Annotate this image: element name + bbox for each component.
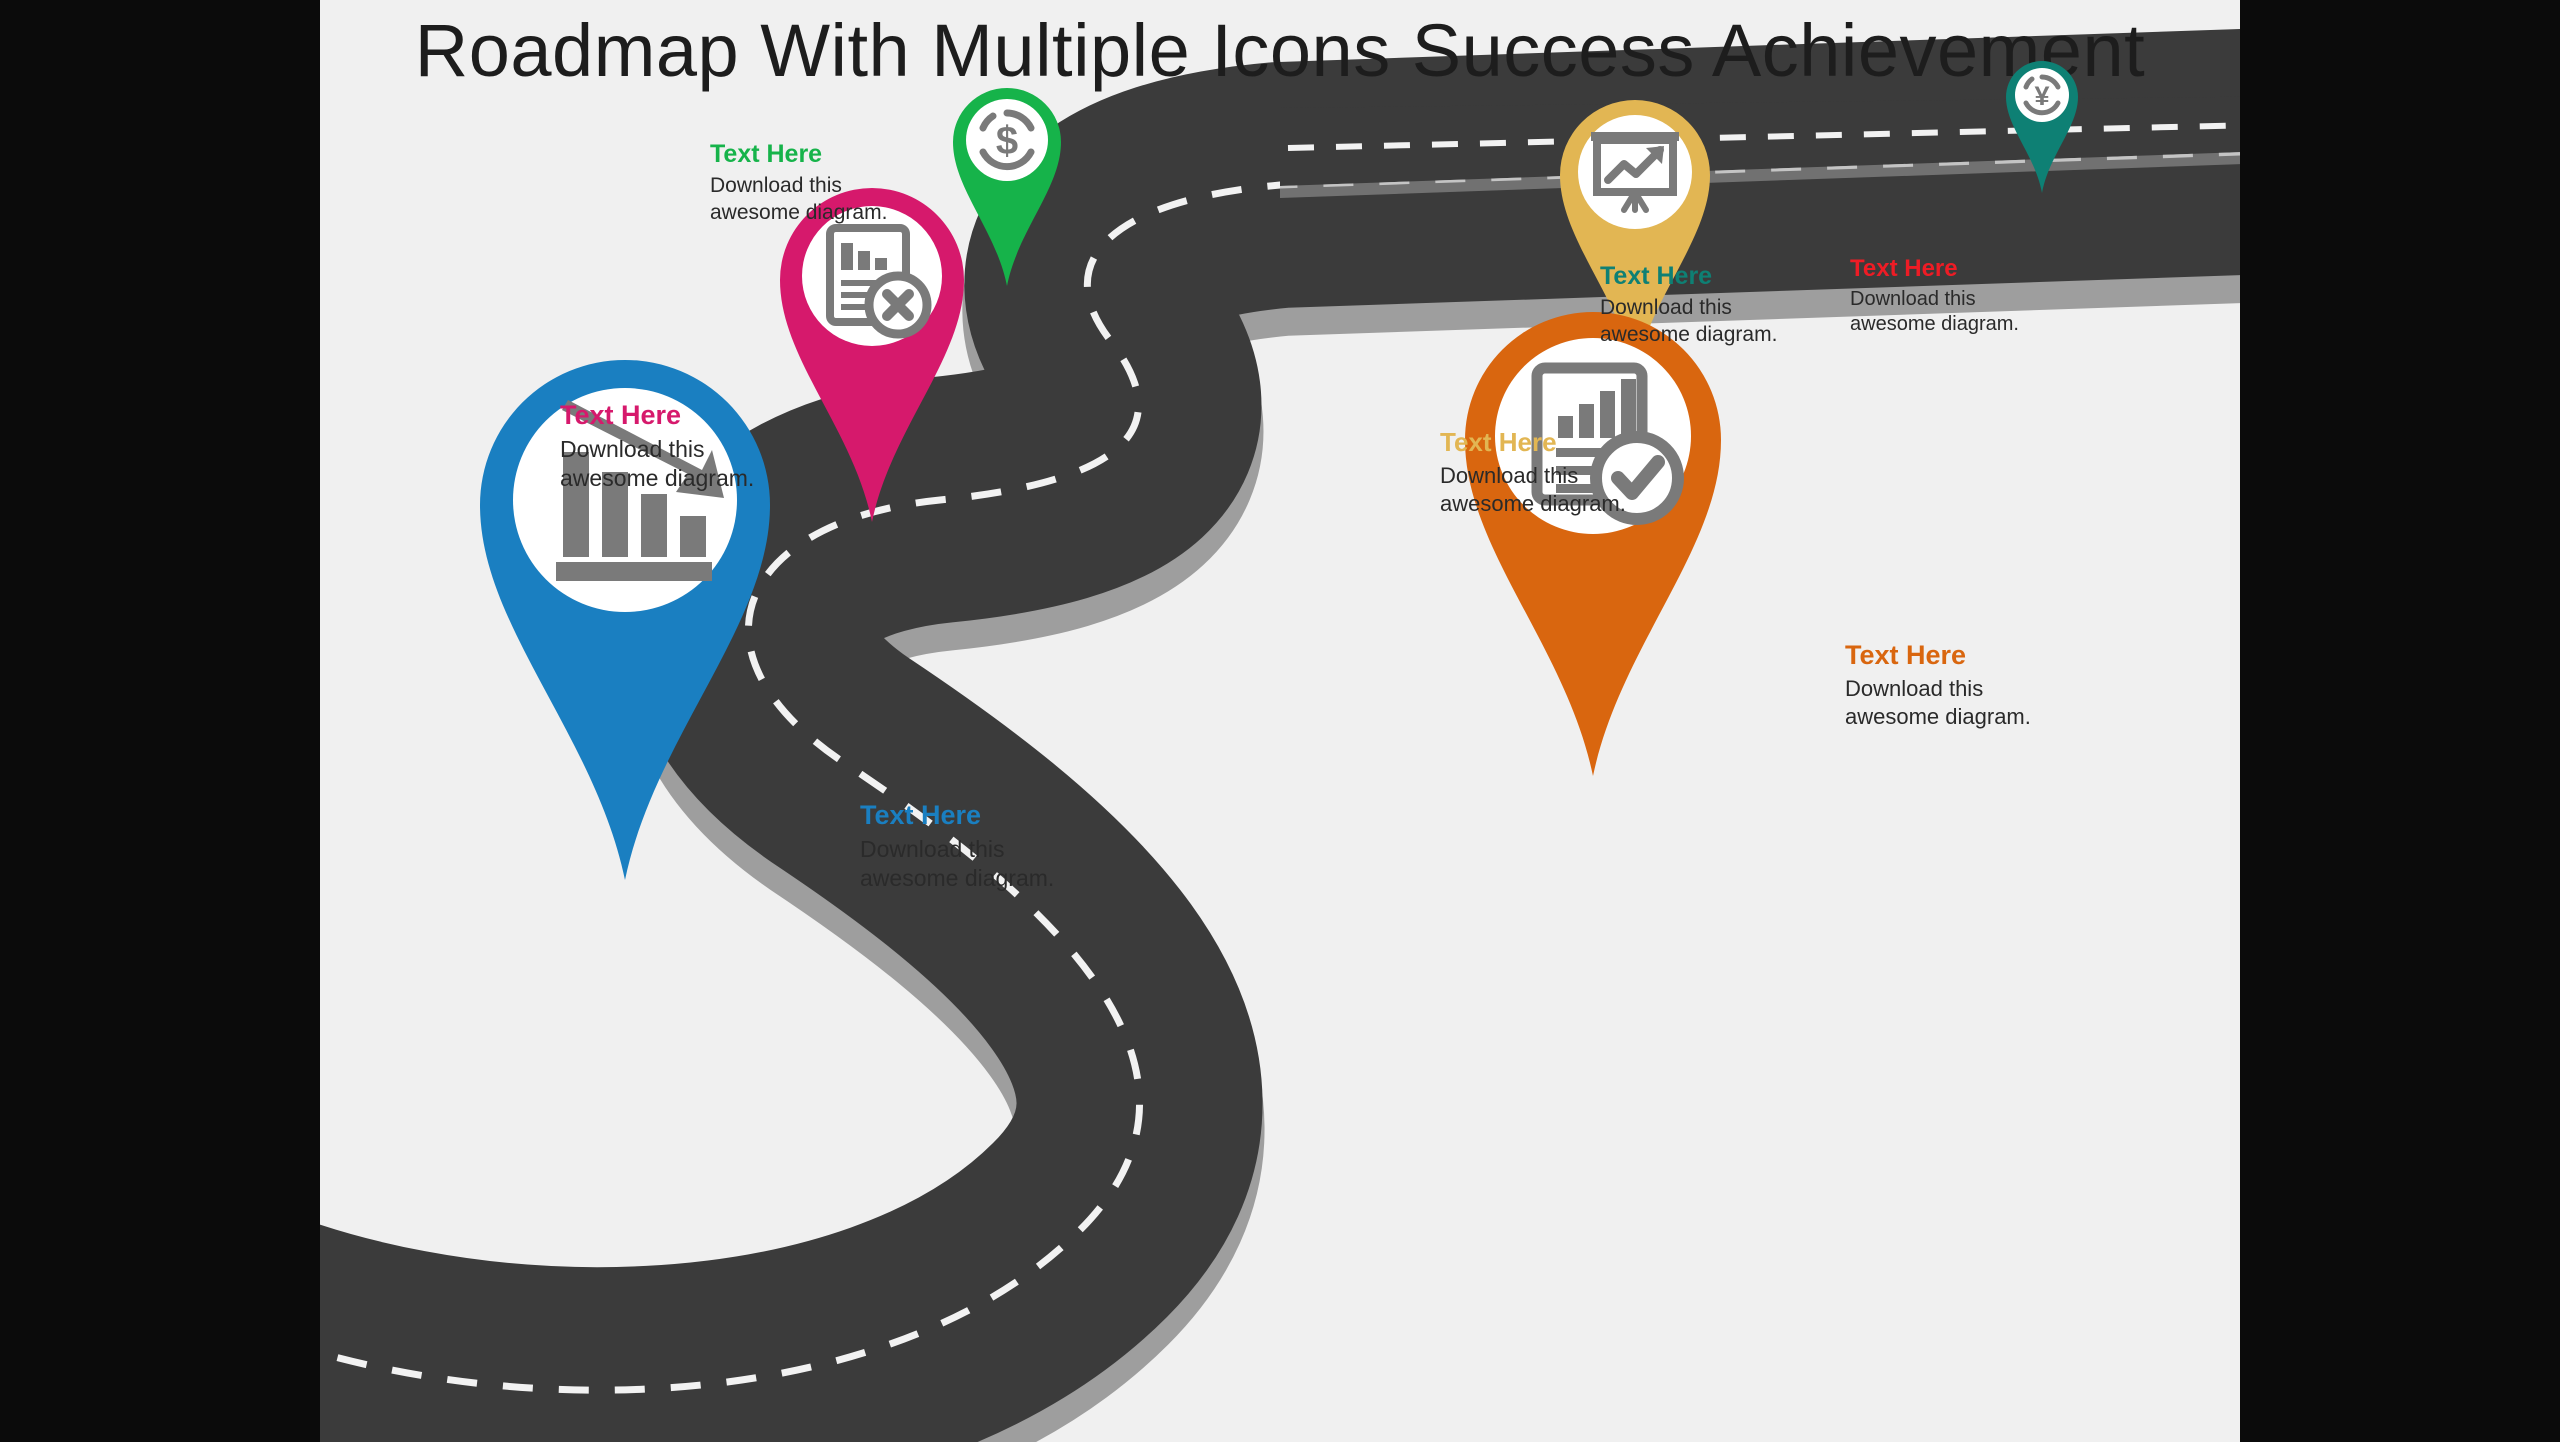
label-body-line2-blue: awesome diagram.	[860, 864, 1054, 893]
screenshot-stage: Roadmap With Multiple Icons Success Achi…	[0, 0, 2560, 1442]
label-body-line2-teal: awesome diagram.	[1600, 322, 1777, 349]
label-body-line1-orange: Download this	[1845, 675, 2031, 703]
label-body-line1-blue: Download this	[860, 835, 1054, 864]
label-body-line2-gold: awesome diagram.	[1440, 490, 1626, 518]
label-body-line1-green: Download this	[710, 173, 887, 200]
label-body-line1-red: Download this	[1850, 287, 2019, 313]
label-heading-orange: Text Here	[1845, 640, 2031, 671]
svg-text:$: $	[996, 119, 1018, 163]
label-heading-pink: Text Here	[560, 400, 754, 431]
label-heading-teal: Text Here	[1600, 262, 1777, 291]
label-body-line2-pink: awesome diagram.	[560, 464, 754, 493]
milestone-label-teal[interactable]: Text Here Download this awesome diagram.	[1600, 262, 1777, 349]
label-heading-green: Text Here	[710, 140, 887, 169]
svg-text:¥: ¥	[2034, 81, 2049, 111]
milestone-pin-teal[interactable]: ¥	[2006, 61, 2078, 193]
label-heading-red: Text Here	[1850, 255, 2019, 283]
milestone-label-gold[interactable]: Text Here Download this awesome diagram.	[1440, 428, 1626, 518]
label-body-line1-pink: Download this	[560, 435, 754, 464]
slide-canvas: Roadmap With Multiple Icons Success Achi…	[320, 0, 2240, 1442]
label-heading-gold: Text Here	[1440, 428, 1626, 458]
milestone-label-green[interactable]: Text Here Download this awesome diagram.	[710, 140, 887, 227]
milestone-pin-pink[interactable]	[780, 188, 964, 522]
label-body-line1-teal: Download this	[1600, 295, 1777, 322]
letterbox-left	[0, 0, 320, 1442]
letterbox-right	[2240, 0, 2560, 1442]
milestone-label-orange[interactable]: Text Here Download this awesome diagram.	[1845, 640, 2031, 731]
label-body-line2-red: awesome diagram.	[1850, 312, 2019, 338]
milestone-label-blue[interactable]: Text Here Download this awesome diagram.	[860, 800, 1054, 894]
milestone-label-pink[interactable]: Text Here Download this awesome diagram.	[560, 400, 754, 494]
label-body-line2-green: awesome diagram.	[710, 200, 887, 227]
label-body-line1-gold: Download this	[1440, 462, 1626, 490]
milestone-pin-green[interactable]: $	[953, 88, 1061, 286]
milestone-label-red[interactable]: Text Here Download this awesome diagram.	[1850, 255, 2019, 338]
milestone-pin-orange[interactable]	[1465, 312, 1721, 776]
label-body-line2-orange: awesome diagram.	[1845, 703, 2031, 731]
label-heading-blue: Text Here	[860, 800, 1054, 831]
